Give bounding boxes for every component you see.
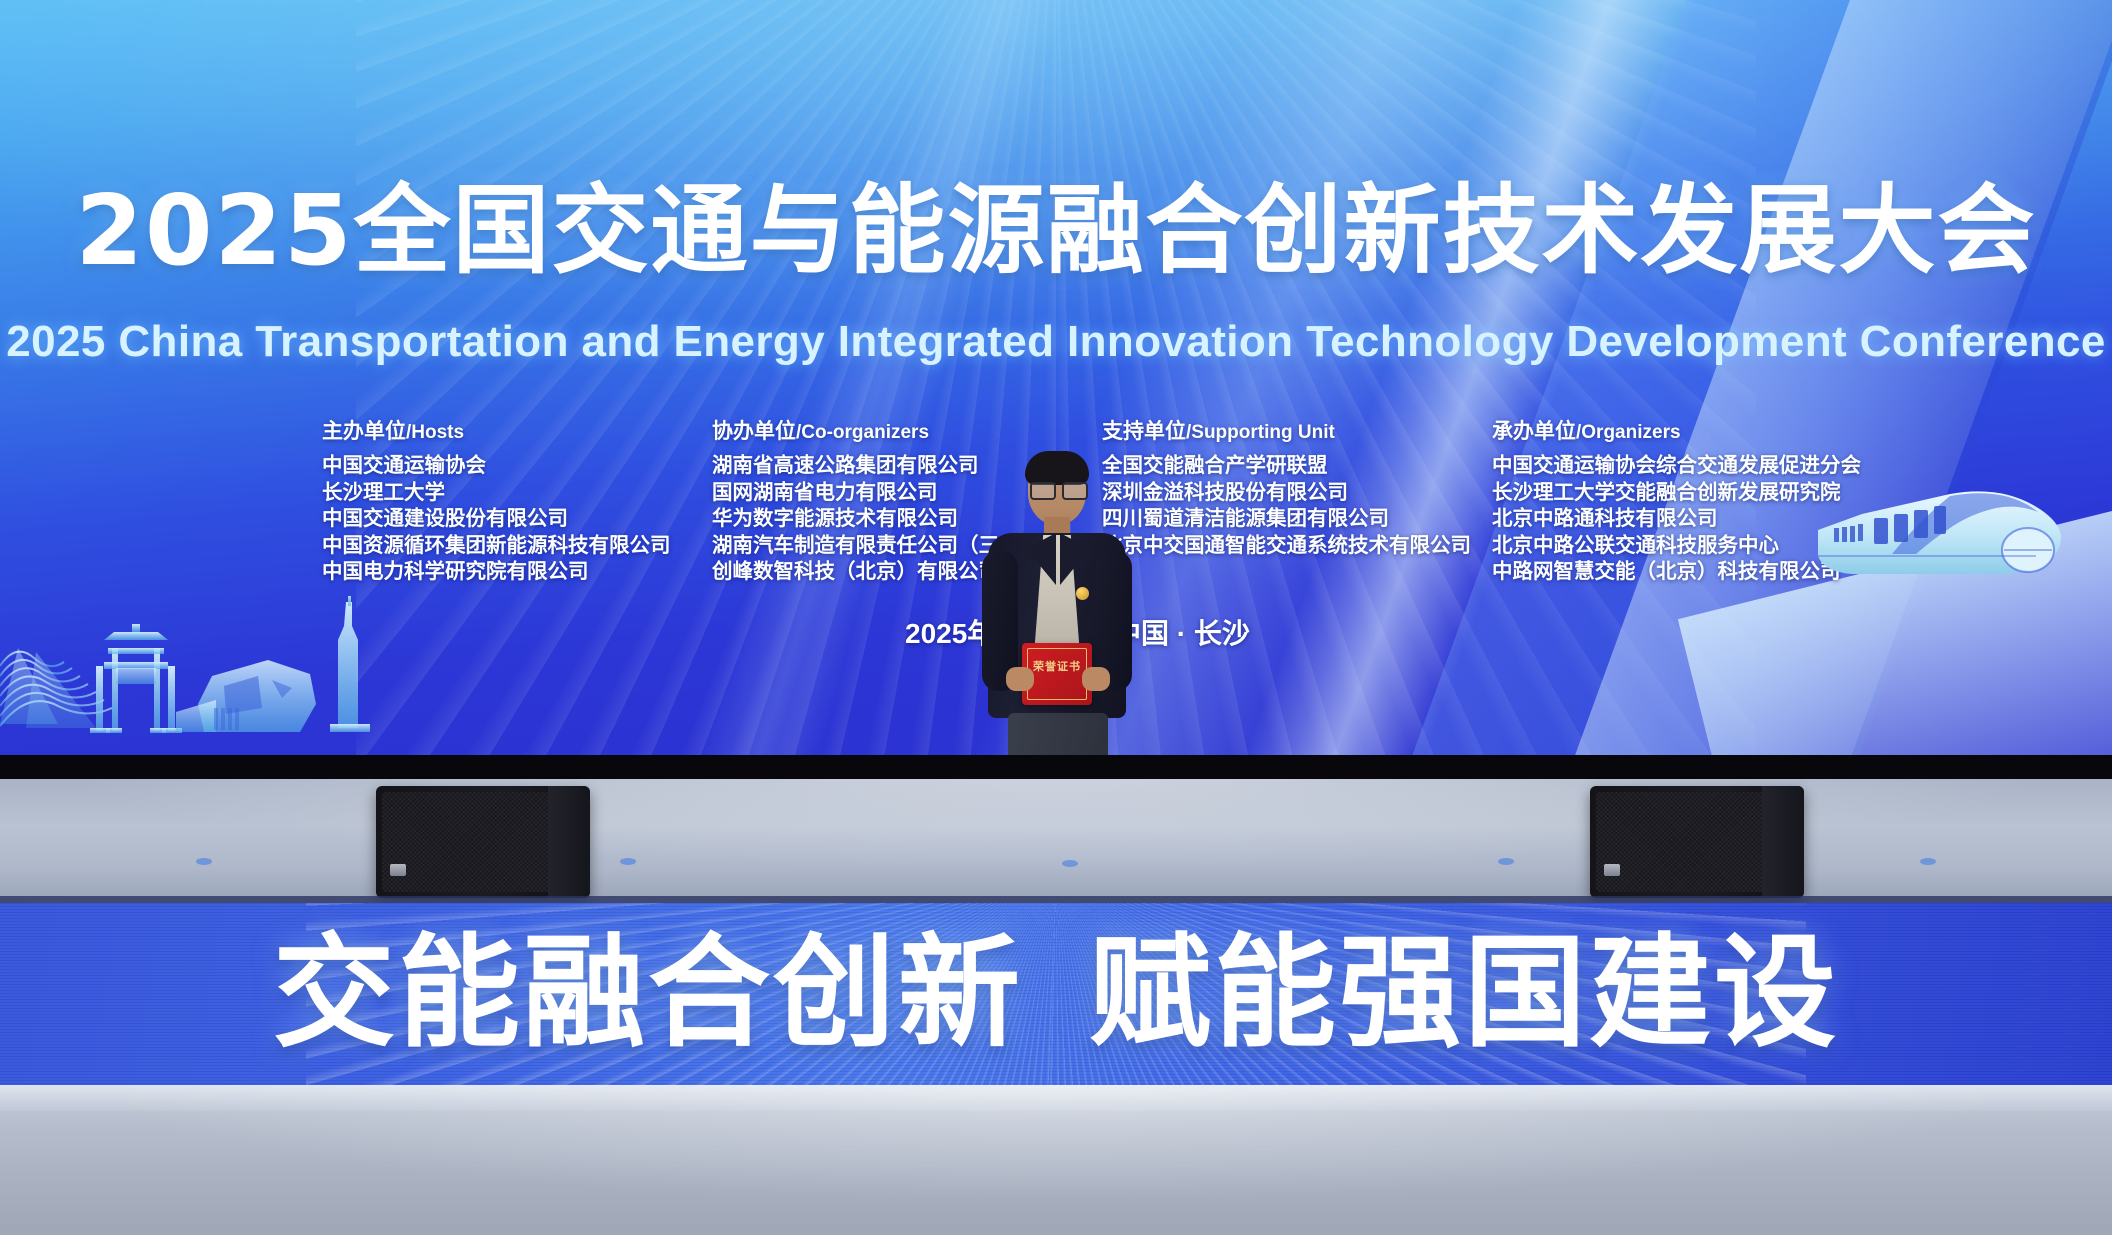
heading-cn: 主办单位: [322, 420, 406, 443]
lapel-pin-icon: [1076, 587, 1089, 600]
heading-cn: 支持单位: [1102, 420, 1186, 443]
sponsor-column-heading: 支持单位/Supporting Unit: [1102, 420, 1471, 444]
person-hand-left: [1006, 667, 1034, 691]
speaker-logo-icon: [390, 864, 406, 876]
changsha-skyline-icon: [0, 596, 400, 761]
glasses-icon: [1030, 482, 1084, 496]
sponsor-item: 北京中交国通智能交通系统技术有限公司: [1102, 533, 1471, 560]
heading-cn: 承办单位: [1492, 420, 1576, 443]
speaker-side-panel: [1762, 786, 1804, 898]
sponsor-list: 中国交通运输协会 长沙理工大学 中国交通建设股份有限公司 中国资源循环集团新能源…: [322, 453, 671, 586]
speaker-logo-icon: [1604, 864, 1620, 876]
sponsor-item: 中国电力科学研究院有限公司: [322, 559, 671, 586]
speaker-grille: [382, 792, 550, 892]
slogan-left: 交能融合创新: [273, 922, 1023, 1064]
sponsor-item: 中国交通建设股份有限公司: [322, 506, 671, 533]
floor-marker: [620, 858, 636, 865]
floor-marker: [1498, 858, 1514, 865]
person-hand-right: [1082, 667, 1110, 691]
conference-place: 中国 · 长沙: [1113, 612, 1250, 652]
sponsor-list: 全国交能融合产学研联盟 深圳金溢科技股份有限公司 四川蜀道清洁能源集团有限公司 …: [1102, 453, 1471, 560]
sponsor-column-heading: 承办单位/Organizers: [1492, 420, 1861, 444]
heading-en: /Organizers: [1576, 422, 1681, 443]
certificate-border: [1027, 648, 1087, 700]
stage-monitor-speaker-right: [1590, 786, 1804, 898]
floor-marker: [1062, 860, 1078, 867]
sponsor-item: 深圳金溢科技股份有限公司: [1102, 480, 1471, 507]
conference-stage-photo: 2025全国交通与能源融合创新技术发展大会 2025 China Transpo…: [0, 0, 2112, 1235]
conference-title-en: 2025 China Transportation and Energy Int…: [0, 320, 2112, 364]
sponsor-item: 长沙理工大学: [322, 480, 671, 507]
heading-en: /Hosts: [406, 422, 464, 443]
sponsor-item: 四川蜀道清洁能源集团有限公司: [1102, 506, 1471, 533]
stage-monitor-speaker-left: [376, 786, 590, 898]
sponsor-column-hosts: 主办单位/Hosts 中国交通运输协会 长沙理工大学 中国交通建设股份有限公司 …: [322, 420, 671, 586]
sponsor-item: 中国交通运输协会综合交通发展促进分会: [1492, 453, 1861, 480]
speaker-side-panel: [548, 786, 590, 898]
sponsor-item: 中国交通运输协会: [322, 453, 671, 480]
stage-front-led-banner: 交能融合创新赋能强国建设: [0, 903, 2112, 1085]
stage-apron-sheen: [0, 1085, 2112, 1235]
sponsor-column-heading: 主办单位/Hosts: [322, 420, 671, 444]
floor-marker: [196, 858, 212, 865]
heading-en: /Supporting Unit: [1186, 422, 1335, 443]
floor-marker: [1920, 858, 1936, 865]
sponsor-column-heading: 协办单位/Co-organizers: [712, 420, 1081, 444]
heading-en: /Co-organizers: [796, 422, 929, 443]
sponsor-item: 全国交能融合产学研联盟: [1102, 453, 1471, 480]
stage-banner-slogan: 交能融合创新赋能强国建设: [0, 929, 2112, 1057]
sponsor-item: 中国资源循环集团新能源科技有限公司: [322, 533, 671, 560]
sponsor-column-supporting-unit: 支持单位/Supporting Unit 全国交能融合产学研联盟 深圳金溢科技股…: [1102, 420, 1471, 559]
heading-cn: 协办单位: [712, 420, 796, 443]
high-speed-train-icon: [1800, 478, 2090, 598]
slogan-right: 赋能强国建设: [1089, 922, 1839, 1064]
conference-title-cn: 2025全国交通与能源融合创新技术发展大会: [0, 182, 2112, 279]
person-hair: [1025, 451, 1089, 485]
speaker-grille: [1596, 792, 1764, 892]
screen-bottom-frame: [0, 755, 2112, 779]
